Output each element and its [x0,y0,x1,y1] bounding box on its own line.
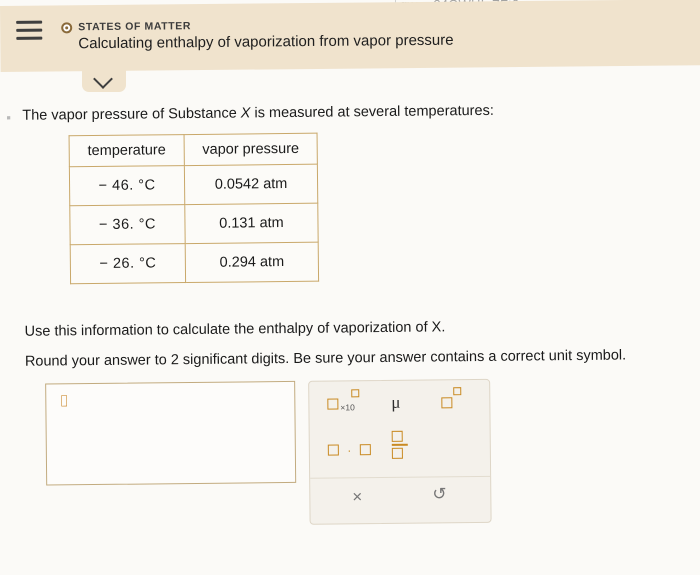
answer-input[interactable]: ⌷ [45,381,296,486]
numerator-box-icon [392,431,403,442]
hamburger-line [16,29,42,32]
question-line-1: The vapor pressure of Substance X is mea… [22,103,494,124]
exponent-box-icon [351,389,359,397]
cell-vapor-pressure: 0.294 atm [185,242,318,282]
substance-variable: X [241,105,251,121]
scientific-notation-button[interactable]: ×10 [327,395,338,413]
superscript-button[interactable] [441,394,452,412]
question-line-1-pre: The vapor pressure of Substance [22,105,241,123]
topic-kicker-label: STATES OF MATTER [78,20,191,33]
table-row: − 36. °C 0.131 atm [70,203,318,245]
cell-vapor-pressure: 0.131 atm [185,203,318,243]
palette-divider [310,476,490,479]
hamburger-menu-icon[interactable] [16,20,42,42]
times-ten-label: ×10 [340,402,355,412]
close-icon: × [352,487,362,506]
answer-cursor-icon: ⌷ [59,393,69,411]
cell-temperature: − 36. °C [70,205,185,245]
exponent-box-icon [453,387,461,395]
page-title: Calculating enthalpy of vaporization fro… [78,32,453,53]
question-line-2: Use this information to calculate the en… [25,319,446,339]
radio-dot-icon [61,22,72,33]
undo-button[interactable]: ↺ [432,484,446,504]
undo-icon: ↺ [432,484,446,503]
vapor-pressure-table: temperature vapor pressure − 46. °C 0.05… [69,133,320,285]
cell-vapor-pressure: 0.0542 atm [184,164,317,204]
table-header-row: temperature vapor pressure [69,133,317,167]
question-line-3: Round your answer to 2 significant digit… [25,347,626,369]
substance-variable: X [432,319,442,335]
clear-button[interactable]: × [352,487,362,507]
question-line-2-post: . [441,319,445,335]
middle-dot-label: · [347,443,351,457]
placeholder-box-icon [328,445,339,456]
denominator-box-icon [392,447,403,458]
question-content: ▪ The vapor pressure of Substance X is m… [0,77,700,575]
hamburger-line [16,37,42,40]
margin-marker: ▪ [6,110,11,125]
placeholder-box-icon [360,444,371,455]
question-line-2-pre: Use this information to calculate the en… [25,319,432,339]
math-symbol-palette: ×10 μ · × ↺ [308,379,491,525]
table-row: − 26. °C 0.294 atm [70,242,318,284]
multiply-button[interactable]: · [328,441,371,459]
topic-kicker: STATES OF MATTER [78,20,191,33]
column-header-vapor-pressure: vapor pressure [184,133,317,165]
fraction-button[interactable] [392,431,410,459]
scientific-notation-glyph: ×10 [327,395,338,412]
assignment-header: STATES OF MATTER Calculating enthalpy of… [0,0,700,72]
micro-label: μ [391,393,400,412]
placeholder-box-icon [327,399,338,410]
micro-prefix-button[interactable]: μ [391,393,400,413]
table-row: − 46. °C 0.0542 atm [69,164,317,206]
fraction-bar-icon [392,444,408,446]
column-header-temperature: temperature [69,135,184,167]
cell-temperature: − 46. °C [69,166,184,206]
cell-temperature: − 26. °C [70,244,185,284]
question-line-1-post: is measured at several temperatures: [250,103,494,122]
placeholder-box-icon [441,398,452,409]
hamburger-line [16,21,42,24]
